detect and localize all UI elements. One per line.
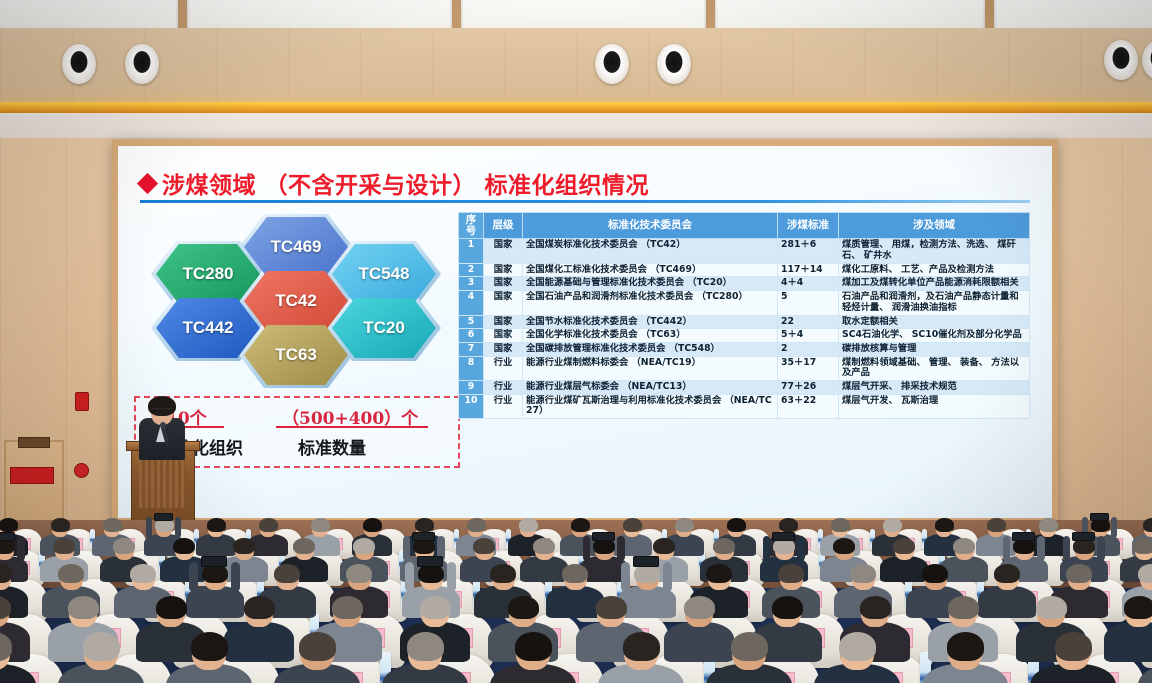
audience-arm: [231, 562, 240, 592]
audience-hair: [515, 632, 552, 661]
audience-hair: [727, 518, 746, 532]
audience-hair: [83, 632, 120, 661]
audience-hair: [58, 564, 84, 583]
cell-level: 行业: [484, 394, 523, 418]
audience-hair: [860, 596, 891, 619]
audience-arm: [1037, 536, 1044, 561]
cell-level: 国家: [484, 277, 523, 291]
audience-hair: [706, 564, 732, 583]
cell-level: 行业: [484, 380, 523, 394]
table-row: 3国家全国能源基础与管理标准化技术委员会 （TC20）4＋4煤加工及煤转化单位产…: [459, 277, 1030, 291]
th-std: 涉煤标准: [778, 213, 839, 239]
hex-label: TC42: [275, 291, 317, 311]
table-body: 1国家全国煤炭标准化技术委员会 （TC42）281＋6煤质管理、 用煤，检测方法…: [459, 239, 1030, 419]
hex-label: TC280: [182, 264, 233, 284]
audience-arm: [617, 536, 624, 561]
audience-hair: [935, 518, 954, 532]
audience-hair: [332, 596, 363, 619]
audience-hair: [363, 518, 382, 532]
audience-arm: [1097, 536, 1104, 561]
cell-no: 1: [459, 239, 484, 263]
cell-field: 取水定额相关: [839, 315, 1030, 329]
cell-name: 全国石油产品和润滑剂标准化技术委员会 （TC280）: [523, 291, 778, 315]
cell-level: 国家: [484, 263, 523, 277]
std-total-label: 标准数量: [298, 434, 366, 459]
audience-arm: [663, 562, 672, 592]
cell-std: 117＋14: [778, 263, 839, 277]
cell-std: 2: [778, 342, 839, 356]
audience-hair: [675, 518, 694, 532]
audience-hair: [1124, 596, 1152, 619]
cell-no: 2: [459, 263, 484, 277]
audience-hair: [571, 518, 590, 532]
table-header-row: 序号 层级 标准化技术委员会 涉煤标准 涉及领域: [459, 213, 1030, 239]
cell-field: 石油产品和润滑剂，及石油产品静态计量和轻烃计量、 润滑油换油指标: [839, 291, 1030, 315]
cell-name: 全国能源基础与管理标准化技术委员会 （TC20）: [523, 277, 778, 291]
standards-table: 序号 层级 标准化技术委员会 涉煤标准 涉及领域 1国家全国煤炭标准化技术委员会…: [458, 212, 1030, 419]
audience-hair: [623, 518, 642, 532]
table-row: 6国家全国化学标准化技术委员会 （TC63）5＋4SC4石油化学、 SC10催化…: [459, 329, 1030, 343]
audience-hair: [233, 538, 255, 554]
audience-hair: [533, 538, 555, 554]
audience-arm: [1003, 536, 1010, 561]
audience-hair: [244, 596, 275, 619]
audience-hair: [1138, 564, 1152, 583]
audience-hair: [713, 538, 735, 554]
cell-no: 10: [459, 394, 484, 418]
audience-hair: [1036, 596, 1067, 619]
cell-no: 6: [459, 329, 484, 343]
audience-arm: [447, 562, 456, 592]
smartphone-icon: [1072, 532, 1094, 542]
table-row: 7国家全国碳排放管理标准化技术委员会 （TC548）2碳排放核算与管理: [459, 342, 1030, 356]
audience-hair: [274, 564, 300, 583]
downlight-icon: [595, 44, 629, 84]
smartphone-icon: [412, 532, 434, 542]
audience-hair: [778, 564, 804, 583]
audience-hair: [353, 538, 375, 554]
audience-hair: [0, 518, 18, 532]
downlight-icon: [62, 44, 96, 84]
audience-hair: [173, 538, 195, 554]
audience-hair: [103, 518, 122, 532]
audience-arm: [403, 536, 410, 561]
audience-shoulders: [978, 586, 1036, 618]
cell-name: 能源行业煤矿瓦斯治理与利用标准化技术委员会 （NEA/TC 27）: [523, 394, 778, 418]
cell-std: 281＋6: [778, 239, 839, 263]
downlight-icon: [125, 44, 159, 84]
audience-arm: [621, 562, 630, 592]
smartphone-icon: [417, 556, 443, 567]
cell-field: 煤化工原料、 工艺、产品及检测方法: [839, 263, 1030, 277]
cell-field: 煤层气开发、 瓦斯治理: [839, 394, 1030, 418]
audience-hair: [407, 632, 444, 661]
smartphone-icon: [1090, 513, 1109, 521]
smartphone-icon: [592, 532, 614, 542]
audience-hair: [731, 632, 768, 661]
door-sign-plate: [18, 437, 50, 448]
audience-shoulders: [546, 586, 604, 618]
cell-level: 国家: [484, 239, 523, 263]
door-warning-sign: [10, 467, 54, 484]
cell-field: 碳排放核算与管理: [839, 342, 1030, 356]
cell-field: 煤加工及煤转化单位产品能源消耗限额相关: [839, 277, 1030, 291]
cell-name: 能源行业煤制燃料标委会 （NEA/TC19）: [523, 356, 778, 380]
audience-hair: [311, 518, 330, 532]
cell-field: 煤质管理、 用煤，检测方法、洗选、 煤矸石、 矿井水: [839, 239, 1030, 263]
cell-level: 行业: [484, 356, 523, 380]
cell-std: 63＋22: [778, 394, 839, 418]
cell-no: 9: [459, 380, 484, 394]
th-field: 涉及领域: [839, 213, 1030, 239]
cell-name: 全国煤化工标准化技术委员会 （TC469）: [523, 263, 778, 277]
audience-hair: [653, 538, 675, 554]
cell-no: 3: [459, 277, 484, 291]
hex-label: TC442: [182, 318, 233, 338]
audience-hair: [1055, 632, 1092, 661]
upper-wall: [0, 113, 1152, 141]
hex-label: TC20: [363, 318, 405, 338]
audience-hair: [994, 564, 1020, 583]
audience-hair: [623, 632, 660, 661]
downlight-icon: [1104, 40, 1138, 80]
hex-label: TC548: [358, 264, 409, 284]
audience-arm: [189, 562, 198, 592]
audience-hair: [596, 596, 627, 619]
audience-hair: [1066, 564, 1092, 583]
audience-hair: [1039, 518, 1058, 532]
cell-std: 5: [778, 291, 839, 315]
cell-no: 5: [459, 315, 484, 329]
audience-arm: [583, 536, 590, 561]
table-row: 8行业能源行业煤制燃料标委会 （NEA/TC19）35＋17煤制燃料领域基础、 …: [459, 356, 1030, 380]
audience-hair: [415, 518, 434, 532]
audience-arm: [1063, 536, 1070, 561]
projection-screen: 涉煤领域 （不含开采与设计） 标准化组织情况 TC469 TC280: [112, 140, 1058, 524]
cell-field: 煤制燃料领域基础、 管理、 装备、 方法以及产品: [839, 356, 1030, 380]
th-no: 序号: [459, 213, 484, 239]
cell-level: 国家: [484, 315, 523, 329]
cell-field: SC4石油化学、 SC10催化剂及部分化学品: [839, 329, 1030, 343]
audience-shoulders: [520, 556, 568, 582]
hex-label: TC63: [275, 345, 317, 365]
fire-alarm-bell-icon: [74, 463, 89, 478]
cell-name: 全国节水标准化技术委员会 （TC442）: [523, 315, 778, 329]
table-row: 5国家全国节水标准化技术委员会 （TC442）22取水定额相关: [459, 315, 1030, 329]
audience-hair: [922, 564, 948, 583]
smartphone-icon: [633, 556, 659, 567]
table-row: 2国家全国煤化工标准化技术委员会 （TC469）117＋14煤化工原料、 工艺、…: [459, 263, 1030, 277]
table-row: 10行业能源行业煤矿瓦斯治理与利用标准化技术委员会 （NEA/TC 27）63＋…: [459, 394, 1030, 418]
fire-alarm-icon: [75, 392, 89, 411]
cell-level: 国家: [484, 342, 523, 356]
audience-shoulders: [664, 622, 734, 662]
smartphone-icon: [1012, 532, 1034, 542]
th-level: 层级: [484, 213, 523, 239]
cell-name: 全国化学标准化技术委员会 （TC63）: [523, 329, 778, 343]
smartphone-icon: [154, 513, 173, 521]
audience-hair: [420, 596, 451, 619]
downlight-icon: [657, 44, 691, 84]
microphone-head-icon: [160, 422, 166, 428]
cell-name: 全国煤炭标准化技术委员会 （TC42）: [523, 239, 778, 263]
audience-hair: [299, 632, 336, 661]
slide-title: 涉煤领域 （不含开采与设计） 标准化组织情况: [140, 166, 649, 200]
th-name: 标准化技术委员会: [523, 213, 778, 239]
audience-hair: [947, 632, 984, 661]
cell-no: 8: [459, 356, 484, 380]
audience-hair: [684, 596, 715, 619]
audience-hair: [772, 596, 803, 619]
smartphone-icon: [772, 532, 794, 542]
audience-hair: [1143, 518, 1152, 532]
audience-hair: [779, 518, 798, 532]
audience-hair: [562, 564, 588, 583]
diamond-bullet-icon: [137, 172, 158, 193]
audience-hair: [850, 564, 876, 583]
hex-diagram: TC469 TC280 TC548 TC42 TC442 TC20: [146, 214, 451, 389]
cell-std: 77＋26: [778, 380, 839, 394]
audience-shoulders: [880, 556, 928, 582]
audience-hair: [53, 538, 75, 554]
audience-arm: [1111, 517, 1117, 538]
audience-hair: [519, 518, 538, 532]
audience-arm: [797, 536, 804, 561]
audience-hair: [948, 596, 979, 619]
speaker-glasses-icon: [152, 408, 172, 414]
audience-hair: [191, 632, 228, 661]
table-row: 9行业能源行业煤层气标委会 （NEA/TC13）77＋26煤层气开采、 排采技术…: [459, 380, 1030, 394]
audience-shoulders: [1104, 622, 1152, 662]
cell-level: 国家: [484, 329, 523, 343]
cell-no: 4: [459, 291, 484, 315]
audience-hair: [987, 518, 1006, 532]
hex-label: TC469: [270, 237, 321, 257]
audience-hair: [953, 538, 975, 554]
smartphone-icon: [201, 556, 227, 567]
audience-hair: [490, 564, 516, 583]
audience-hair: [293, 538, 315, 554]
audience-arm: [146, 517, 152, 538]
cell-name: 全国碳排放管理标准化技术委员会 （TC548）: [523, 342, 778, 356]
table-row: 4国家全国石油产品和润滑剂标准化技术委员会 （TC280）5石油产品和润滑剂，及…: [459, 291, 1030, 315]
audience-hair: [893, 538, 915, 554]
table-row: 1国家全国煤炭标准化技术委员会 （TC42）281＋6煤质管理、 用煤，检测方法…: [459, 239, 1030, 263]
audience-arm: [405, 562, 414, 592]
cell-std: 5＋4: [778, 329, 839, 343]
title-underline: [140, 200, 1030, 203]
audience-hair: [130, 564, 156, 583]
audience-hair: [346, 564, 372, 583]
conference-hall-photo: 涉煤领域 （不含开采与设计） 标准化组织情况 TC469 TC280: [0, 0, 1152, 683]
audience-shoulders: [224, 622, 294, 662]
audience-hair: [467, 518, 486, 532]
audience-hair: [833, 538, 855, 554]
audience-hair: [473, 538, 495, 554]
podium-front-panel: [139, 458, 185, 508]
audience-hair: [207, 518, 226, 532]
cell-std: 4＋4: [778, 277, 839, 291]
slide-content: 涉煤领域 （不含开采与设计） 标准化组织情况 TC469 TC280: [118, 146, 1052, 518]
audience-arm: [763, 536, 770, 561]
audience-hair: [113, 538, 135, 554]
audience-arm: [175, 517, 181, 538]
audience-hair: [508, 596, 539, 619]
cell-std: 22: [778, 315, 839, 329]
audience-shoulders: [196, 534, 236, 556]
audience-hair: [831, 518, 850, 532]
audience-hair: [259, 518, 278, 532]
cell-field: 煤层气开采、 排采技术规范: [839, 380, 1030, 394]
smartphone-icon: [0, 532, 15, 542]
slide-title-text: 涉煤领域 （不含开采与设计） 标准化组织情况: [162, 166, 649, 200]
audience-hair: [839, 632, 876, 661]
audience-hair: [68, 596, 99, 619]
cell-no: 7: [459, 342, 484, 356]
std-total-underline: [276, 426, 428, 428]
audience-hair: [51, 518, 70, 532]
audience-hair: [1133, 538, 1152, 554]
audience-hair: [156, 596, 187, 619]
cell-std: 35＋17: [778, 356, 839, 380]
audience-arm: [17, 536, 24, 561]
cell-name: 能源行业煤层气标委会 （NEA/TC13）: [523, 380, 778, 394]
cell-level: 国家: [484, 291, 523, 315]
soffit-wood-grain: [0, 28, 1152, 110]
audience-hair: [883, 518, 902, 532]
